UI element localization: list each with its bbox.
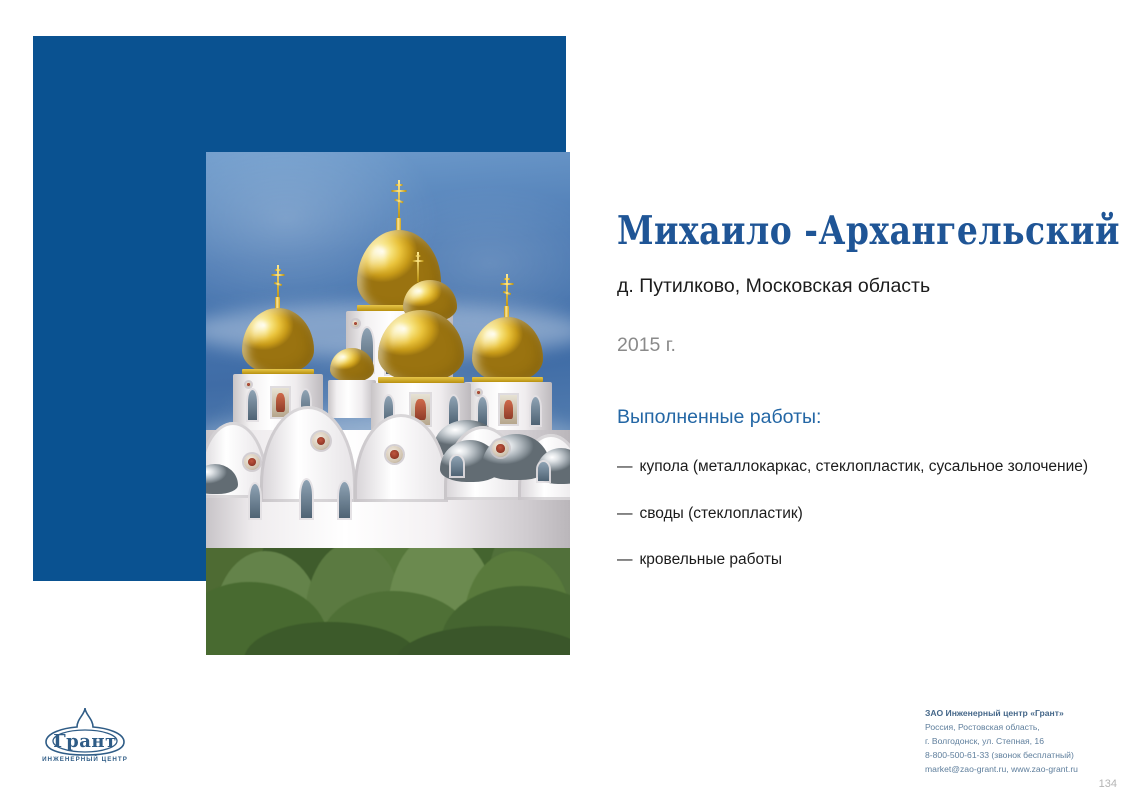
window [478, 397, 487, 425]
window [531, 397, 540, 425]
icon-medallion [386, 446, 403, 463]
window [538, 462, 549, 481]
works-heading: Выполненные работы: [617, 405, 1117, 429]
works-list: —купола (металлокаркас, стеклопластик, с… [617, 457, 1117, 569]
gold-dome-right [472, 317, 543, 382]
footer-company-name: ЗАО Инженерный центр «Грант» [925, 707, 1125, 721]
svg-text:Грант: Грант [53, 731, 117, 752]
dash-marker: — [617, 458, 633, 475]
list-item-label: кровельные работы [640, 551, 783, 568]
icon-panel [500, 395, 517, 424]
cross-icon [271, 265, 285, 299]
footer-address-region: Россия, Ростовская область, [925, 721, 1125, 735]
window [449, 396, 458, 424]
list-item: —своды (стеклопластик) [617, 504, 1117, 524]
window [301, 480, 312, 518]
window [451, 456, 463, 476]
project-year: 2015 г. [617, 333, 1117, 357]
list-item: —купола (металлокаркас, стеклопластик, с… [617, 457, 1117, 477]
presentation-slide: Михаило -Архангельский храм д. Путилково… [0, 0, 1131, 800]
icon-medallion [492, 440, 509, 457]
window [339, 482, 350, 518]
icon-medallion [312, 432, 330, 450]
cross-icon [391, 180, 407, 220]
icon-medallion [246, 382, 251, 387]
logo-tagline: ИНЖЕНЕРНЫЙ ЦЕНТР [33, 756, 137, 763]
icon-medallion [244, 454, 260, 470]
page-number: 134 [1099, 778, 1117, 790]
cross-icon [500, 274, 514, 308]
photo-inner [206, 152, 570, 655]
list-item-label: купола (металлокаркас, стеклопластик, су… [640, 458, 1089, 475]
location-subtitle: д. Путилково, Московская область [617, 274, 1117, 298]
page-title: Михаило -Архангельский храм [617, 210, 1117, 253]
icon-medallion [352, 320, 359, 327]
list-item-label: своды (стеклопластик) [640, 505, 803, 522]
dash-marker: — [617, 505, 633, 522]
company-logo: Грант ИНЖЕНЕРНЫЙ ЦЕНТР [33, 706, 137, 772]
dash-marker: — [617, 551, 633, 568]
window [250, 484, 260, 518]
church-photo [206, 152, 570, 655]
window [248, 390, 257, 420]
logo-dome-icon: Грант [33, 706, 137, 758]
footer-contact-block: ЗАО Инженерный центр «Грант» Россия, Рос… [925, 707, 1125, 777]
icon-medallion [476, 390, 481, 395]
cross-icon [412, 252, 424, 282]
list-item: —кровельные работы [617, 550, 1117, 570]
footer-email-website: market@zao-grant.ru, www.zao-grant.ru [925, 763, 1125, 777]
text-content: Михаило -Архангельский храм д. Путилково… [617, 210, 1117, 596]
gold-dome-left [242, 308, 314, 374]
footer-address-street: г. Волгодонск, ул. Степная, 16 [925, 735, 1125, 749]
dome-drum [328, 380, 376, 418]
footer-phone: 8-800-500-61-33 (звонок бесплатный) [925, 749, 1125, 763]
